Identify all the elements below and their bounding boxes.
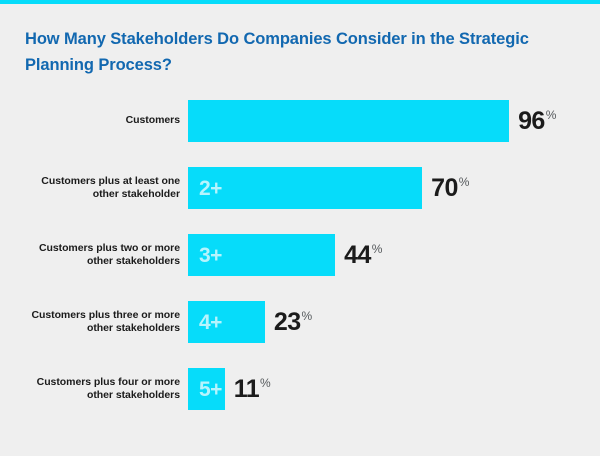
bar-value-number: 70 (431, 175, 458, 201)
bar-inner-label: 2+ (188, 178, 222, 199)
bar-value-percent-symbol: % (372, 242, 383, 257)
bar-row-label-line1: Customers plus three or more (31, 309, 180, 323)
bar-wrap: 3+ 44 % (188, 234, 382, 276)
bar-value-percent-symbol: % (459, 175, 470, 190)
bar-value-group: 44 % (344, 242, 382, 268)
bar-wrap: 96 % (188, 100, 556, 142)
bar-row-label: Customers plus at least one other stakeh… (8, 167, 180, 209)
bar-value-number: 23 (274, 309, 301, 335)
bar-chart: Customers 96 % Customers plus at least o… (0, 100, 600, 435)
bar-row-label-line2: other stakeholders (87, 389, 180, 403)
bar-fill[interactable] (188, 100, 509, 142)
bar-row-label-line1: Customers plus at least one (41, 175, 180, 189)
bar-row-label-line2: other stakeholders (87, 322, 180, 336)
bar-row: Customers plus two or more other stakeho… (0, 234, 600, 301)
bar-row: Customers plus four or more other stakeh… (0, 368, 600, 435)
bar-value-number: 96 (518, 108, 545, 134)
bar-row-label: Customers plus two or more other stakeho… (8, 234, 180, 276)
bar-inner-label: 3+ (188, 245, 222, 266)
bar-fill[interactable]: 5+ (188, 368, 225, 410)
bar-row-label-line1: Customers plus four or more (37, 376, 180, 390)
bar-row: Customers plus three or more other stake… (0, 301, 600, 368)
bar-wrap: 4+ 23 % (188, 301, 312, 343)
bar-value-group: 23 % (274, 309, 312, 335)
bar-fill[interactable]: 2+ (188, 167, 422, 209)
bar-value-number: 11 (234, 376, 259, 402)
bar-value-percent-symbol: % (260, 376, 271, 391)
bar-row-label-line1: Customers plus two or more (39, 242, 180, 256)
bar-value-group: 96 % (518, 108, 556, 134)
bar-value-number: 44 (344, 242, 371, 268)
bar-row-label-line1: Customers (126, 114, 180, 128)
bar-fill[interactable]: 4+ (188, 301, 265, 343)
bar-row: Customers plus at least one other stakeh… (0, 167, 600, 234)
bar-row-label: Customers plus three or more other stake… (8, 301, 180, 343)
chart-page: How Many Stakeholders Do Companies Consi… (0, 4, 600, 456)
bar-value-percent-symbol: % (546, 108, 557, 123)
bar-inner-label: 5+ (188, 379, 222, 400)
bar-row-label: Customers plus four or more other stakeh… (8, 368, 180, 410)
bar-row-label-line2: other stakeholder (93, 188, 180, 202)
bar-value-group: 11 % (234, 376, 271, 402)
page-title: How Many Stakeholders Do Companies Consi… (25, 26, 545, 78)
bar-inner-label: 4+ (188, 312, 222, 333)
bar-value-percent-symbol: % (302, 309, 313, 324)
bar-value-group: 70 % (431, 175, 469, 201)
bar-row-label: Customers (8, 100, 180, 142)
bar-fill[interactable]: 3+ (188, 234, 335, 276)
bar-wrap: 5+ 11 % (188, 368, 271, 410)
bar-row-label-line2: other stakeholders (87, 255, 180, 269)
bar-row: Customers 96 % (0, 100, 600, 167)
bar-wrap: 2+ 70 % (188, 167, 469, 209)
